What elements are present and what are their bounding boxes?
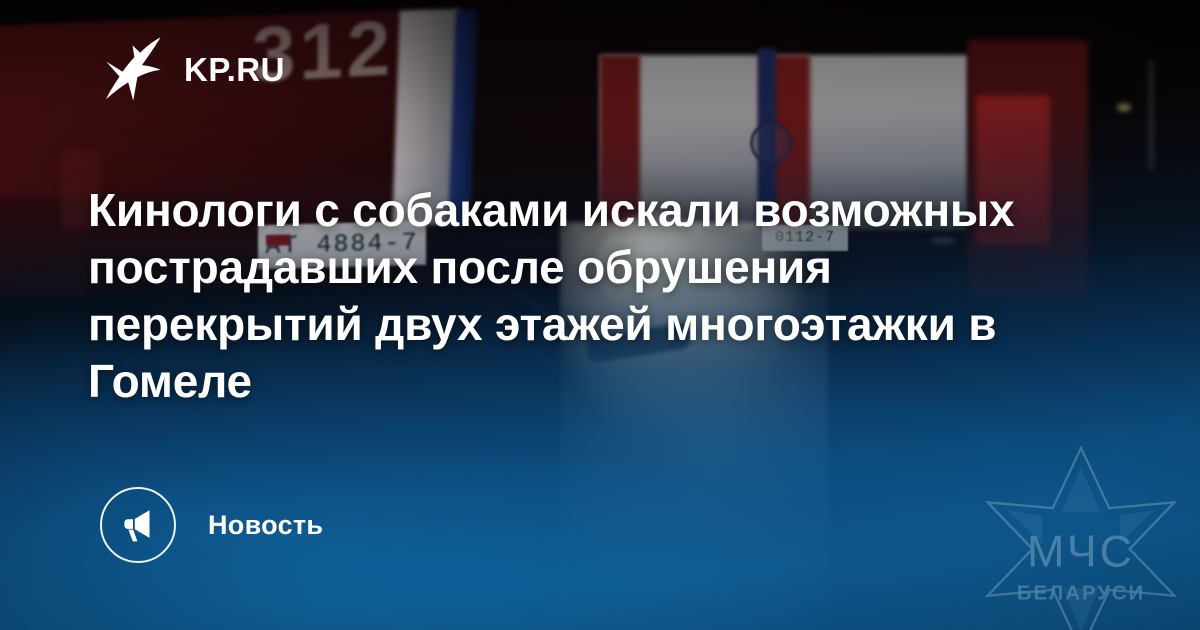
- brand-lockup[interactable]: KP.RU: [100, 36, 285, 102]
- badge-icon-circle: [100, 487, 176, 563]
- card-content: KP.RU Кинологи с собаками искали возможн…: [0, 0, 1200, 630]
- watermark-title-text: МЧС: [1027, 527, 1135, 577]
- swallow-bird-icon: [100, 36, 162, 102]
- megaphone-icon: [118, 505, 158, 545]
- mchs-belarus-watermark: МЧС БЕЛАРУСИ: [974, 442, 1188, 630]
- status-badge[interactable]: Новость: [100, 487, 323, 563]
- social-share-card: 312 0112-7 AT 4884-7: [0, 0, 1200, 630]
- page-title: Кинологи с собаками искали возможных пос…: [88, 182, 1078, 410]
- watermark-subtitle-text: БЕЛАРУСИ: [1017, 583, 1145, 605]
- badge-label: Новость: [208, 510, 323, 541]
- six-pointed-star-icon: МЧС БЕЛАРУСИ: [974, 442, 1188, 630]
- brand-name: KP.RU: [184, 53, 285, 86]
